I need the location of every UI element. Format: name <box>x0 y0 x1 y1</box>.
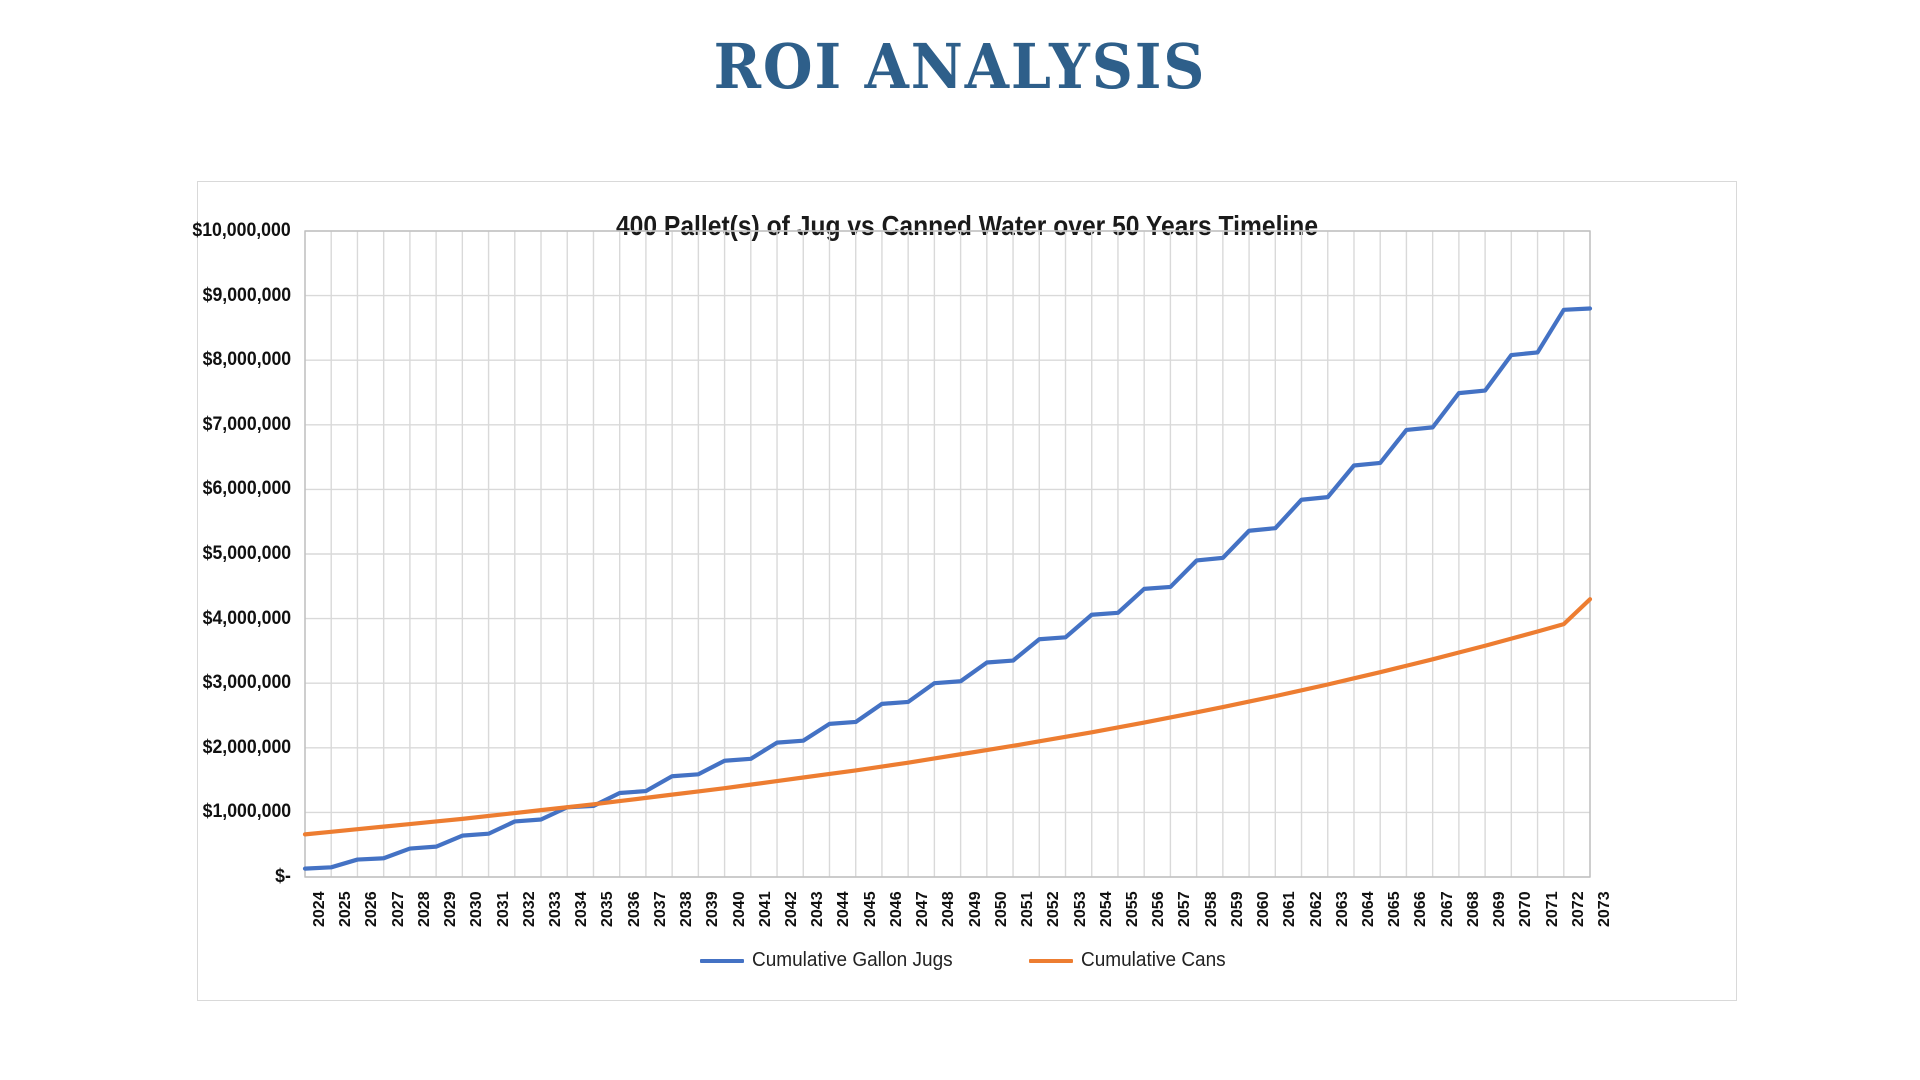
x-axis-tick-label: 2073 <box>1596 891 1614 927</box>
x-axis-tick-label: 2071 <box>1544 891 1562 927</box>
x-axis-tick-label: 2047 <box>914 891 932 927</box>
x-axis-tick-label: 2067 <box>1439 891 1457 927</box>
x-axis-tick-label: 2036 <box>626 891 644 927</box>
x-axis-tick-label: 2064 <box>1360 891 1378 927</box>
x-axis-tick-label: 2069 <box>1491 891 1509 927</box>
x-axis-tick-label: 2031 <box>495 891 513 927</box>
legend-item[interactable]: Cumulative Gallon Jugs <box>700 949 963 972</box>
legend-item[interactable]: Cumulative Cans <box>1029 949 1233 972</box>
x-axis-tick-label: 2055 <box>1124 891 1142 927</box>
chart-container: 400 Pallet(s) of Jug vs Canned Water ove… <box>197 181 1737 1001</box>
x-axis-tick-label: 2052 <box>1045 891 1063 927</box>
legend-line-swatch <box>700 959 744 963</box>
x-axis-tick-label: 2049 <box>967 891 985 927</box>
legend-label: Cumulative Gallon Jugs <box>752 949 953 972</box>
x-axis-tick-label: 2038 <box>678 891 696 927</box>
y-axis-tick-label: $2,000,000 <box>203 737 291 759</box>
x-axis-tick-label: 2039 <box>704 891 722 927</box>
x-axis-tick-label: 2054 <box>1098 891 1116 927</box>
chart-plot-svg <box>198 182 1736 1000</box>
legend-label: Cumulative Cans <box>1081 949 1226 972</box>
x-axis-tick-label: 2029 <box>442 891 460 927</box>
legend-line-swatch <box>1029 959 1073 963</box>
x-axis-tick-label: 2062 <box>1308 891 1326 927</box>
x-axis-tick-label: 2043 <box>809 891 827 927</box>
y-axis-tick-label: $5,000,000 <box>203 543 291 565</box>
x-axis-tick-label: 2058 <box>1203 891 1221 927</box>
x-axis-tick-label: 2028 <box>416 891 434 927</box>
x-axis-tick-label: 2066 <box>1412 891 1430 927</box>
x-axis-tick-label: 2024 <box>311 891 329 927</box>
x-axis-tick-label: 2045 <box>862 891 880 927</box>
x-axis-tick-label: 2040 <box>731 891 749 927</box>
x-axis-tick-label: 2030 <box>468 891 486 927</box>
plot-area: $10,000,000$9,000,000$8,000,000$7,000,00… <box>198 182 1736 1000</box>
x-axis-tick-label: 2027 <box>390 891 408 927</box>
x-axis-tick-label: 2059 <box>1229 891 1247 927</box>
y-axis-tick-label: $10,000,000 <box>193 220 291 242</box>
y-axis-tick-label: $4,000,000 <box>203 608 291 630</box>
x-axis-tick-label: 2070 <box>1517 891 1535 927</box>
x-axis-tick-label: 2035 <box>599 891 617 927</box>
x-axis-tick-label: 2057 <box>1176 891 1194 927</box>
x-axis-tick-label: 2034 <box>573 891 591 927</box>
page-title: ROI ANALYSIS <box>77 0 1843 98</box>
x-axis-tick-label: 2048 <box>940 891 958 927</box>
y-axis-tick-label: $9,000,000 <box>203 285 291 307</box>
x-axis-tick-label: 2072 <box>1570 891 1588 927</box>
x-axis-tick-label: 2042 <box>783 891 801 927</box>
x-axis-tick-label: 2060 <box>1255 891 1273 927</box>
x-axis-tick-label: 2033 <box>547 891 565 927</box>
x-axis-tick-label: 2041 <box>757 891 775 927</box>
y-axis-tick-label: $- <box>275 866 291 888</box>
x-axis-tick-label: 2068 <box>1465 891 1483 927</box>
x-axis-tick-label: 2050 <box>993 891 1011 927</box>
x-axis-tick-label: 2026 <box>363 891 381 927</box>
x-axis-tick-label: 2056 <box>1150 891 1168 927</box>
x-axis-tick-label: 2046 <box>888 891 906 927</box>
x-axis-tick-label: 2037 <box>652 891 670 927</box>
x-axis-tick-label: 2032 <box>521 891 539 927</box>
y-axis-tick-label: $1,000,000 <box>203 801 291 823</box>
x-axis-tick-label: 2025 <box>337 891 355 927</box>
y-axis-tick-label: $3,000,000 <box>203 672 291 694</box>
x-axis-tick-label: 2061 <box>1281 891 1299 927</box>
x-axis-tick-label: 2063 <box>1334 891 1352 927</box>
y-axis-tick-label: $6,000,000 <box>203 478 291 500</box>
x-axis-tick-label: 2065 <box>1386 891 1404 927</box>
x-axis-tick-label: 2044 <box>835 891 853 927</box>
x-axis-tick-label: 2051 <box>1019 891 1037 927</box>
y-axis-tick-label: $7,000,000 <box>203 414 291 436</box>
x-axis-tick-label: 2053 <box>1072 891 1090 927</box>
y-axis-tick-label: $8,000,000 <box>203 349 291 371</box>
chart-legend: Cumulative Gallon JugsCumulative Cans <box>198 949 1736 972</box>
